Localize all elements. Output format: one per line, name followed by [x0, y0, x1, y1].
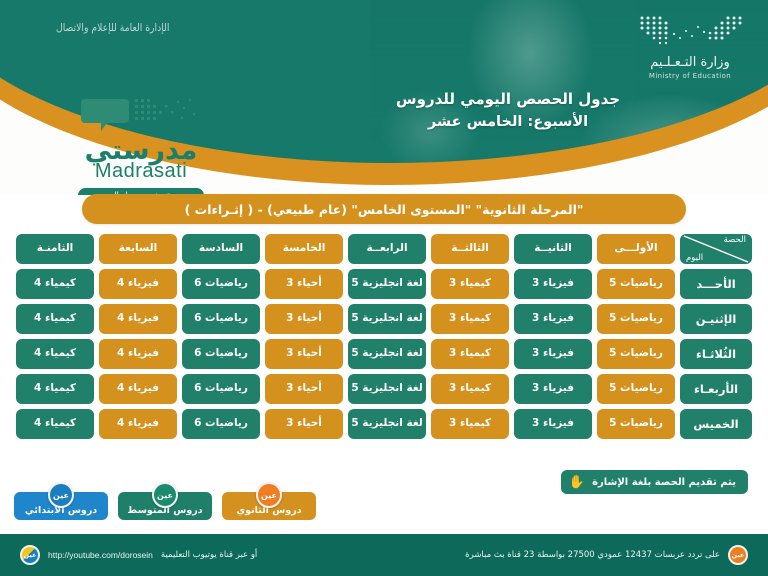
subject-cell[interactable]: فيزياء 3: [514, 374, 592, 404]
corner-period-label: الحصة: [724, 235, 746, 245]
subject-cell[interactable]: كيمياء 4: [16, 339, 94, 369]
period-header-cell: الأولـــى: [597, 234, 675, 264]
ein-logo-icon: عين: [728, 545, 748, 565]
day-label-cell: الخميس: [680, 409, 752, 439]
period-header-cell: الرابعــة: [348, 234, 426, 264]
subject-cell[interactable]: رياضيات 6: [182, 339, 260, 369]
subject-cell[interactable]: كيمياء 4: [16, 304, 94, 334]
subject-cell[interactable]: فيزياء 4: [99, 339, 177, 369]
day-label-cell: الأحـــد: [680, 269, 752, 299]
subject-cell[interactable]: رياضيات 6: [182, 269, 260, 299]
page-title-line1: جدول الحصص اليومي للدروس: [338, 88, 678, 111]
subject-cell[interactable]: فيزياء 4: [99, 409, 177, 439]
subject-cell[interactable]: كيمياء 4: [16, 269, 94, 299]
subject-cell[interactable]: كيمياء 4: [16, 409, 94, 439]
footer-youtube-info[interactable]: أو عبر قناة يوتيوب التعليمية http://yout…: [20, 545, 257, 565]
subject-cell[interactable]: كيمياء 4: [16, 374, 94, 404]
table-row: الأربعـاءرياضيات 5فيزياء 3كيمياء 3لغة ان…: [16, 374, 752, 404]
footer-bar: عين على تردد عربسات 12437 عمودي 27500 بو…: [0, 534, 768, 576]
page-title: جدول الحصص اليومي للدروس الأسبوع: الخامس…: [338, 88, 678, 134]
subject-cell[interactable]: رياضيات 5: [597, 374, 675, 404]
subject-cell[interactable]: فيزياء 3: [514, 304, 592, 334]
sign-language-hand-icon: ✋: [569, 476, 585, 489]
channel-badge[interactable]: عيندروس الابتدائي: [14, 482, 108, 520]
youtube-channel-text: أو عبر قناة يوتيوب التعليمية: [161, 550, 257, 560]
subject-cell[interactable]: كيمياء 3: [431, 339, 509, 369]
page-title-line2: الأسبوع: الخامس عشر: [338, 111, 678, 133]
subject-cell[interactable]: رياضيات 6: [182, 374, 260, 404]
day-label-cell: الأربعـاء: [680, 374, 752, 404]
table-row: الثُلاثـاءرياضيات 5فيزياء 3كيمياء 3لغة ا…: [16, 339, 752, 369]
channel-badges: عيندروس الابتدائيعيندروس المتوسطعيندروس …: [14, 482, 316, 520]
corner-day-label: اليوم: [686, 253, 703, 263]
period-header-cell: السادسة: [182, 234, 260, 264]
subject-cell[interactable]: أحياء 3: [265, 374, 343, 404]
ministry-of-education-logo: وزارة التـعـلـيم Ministry of Education: [636, 14, 744, 80]
ministry-name-en: Ministry of Education: [636, 72, 744, 80]
subject-cell[interactable]: كيمياء 3: [431, 374, 509, 404]
subject-cell[interactable]: رياضيات 6: [182, 409, 260, 439]
subject-cell[interactable]: رياضيات 5: [597, 339, 675, 369]
subject-cell[interactable]: فيزياء 4: [99, 374, 177, 404]
sign-language-note: يتم تقديم الحصة بلغة الإشارة ✋: [561, 470, 748, 494]
saudi-vision-emblem-icon: [636, 14, 744, 48]
subject-cell[interactable]: فيزياء 4: [99, 269, 177, 299]
subject-cell[interactable]: لغة انجليزية 5: [348, 304, 426, 334]
day-label-cell: الثُلاثـاء: [680, 339, 752, 369]
table-row: الأحـــدرياضيات 5فيزياء 3كيمياء 3لغة انج…: [16, 269, 752, 299]
subject-cell[interactable]: كيمياء 3: [431, 304, 509, 334]
table-row: الخميسرياضيات 5فيزياء 3كيمياء 3لغة انجلي…: [16, 409, 752, 439]
table-header-row: الحصةاليومالأولـــىالثانيــةالثالثــةالر…: [16, 234, 752, 264]
subject-cell[interactable]: فيزياء 4: [99, 304, 177, 334]
table-corner-cell: الحصةاليوم: [680, 234, 752, 264]
gov-department-label: الإدارة العامة للإعلام والاتصال: [56, 22, 169, 34]
subject-cell[interactable]: كيمياء 3: [431, 409, 509, 439]
period-header-cell: السابعة: [99, 234, 177, 264]
period-header-cell: الخامسة: [265, 234, 343, 264]
subject-cell[interactable]: رياضيات 5: [597, 409, 675, 439]
subject-cell[interactable]: فيزياء 3: [514, 409, 592, 439]
subject-cell[interactable]: كيمياء 3: [431, 269, 509, 299]
subject-cell[interactable]: لغة انجليزية 5: [348, 339, 426, 369]
ein-logo-icon: عين: [256, 482, 282, 508]
footer-satellite-info: عين على تردد عربسات 12437 عمودي 27500 بو…: [465, 545, 748, 565]
madrasati-name-en: Madrasati: [46, 160, 236, 183]
madrasati-logo: مدرستي Madrasati مدرسة بث وتسجيل الدروس: [46, 95, 236, 195]
subject-cell[interactable]: رياضيات 5: [597, 269, 675, 299]
period-header-cell: الثانيــة: [514, 234, 592, 264]
subject-cell[interactable]: لغة انجليزية 5: [348, 409, 426, 439]
subject-cell[interactable]: أحياء 3: [265, 409, 343, 439]
channel-badge[interactable]: عيندروس المتوسط: [118, 482, 212, 520]
satellite-frequency-text: على تردد عربسات 12437 عمودي 27500 بواسطة…: [465, 550, 720, 560]
subject-cell[interactable]: أحياء 3: [265, 269, 343, 299]
youtube-url-link[interactable]: http://youtube.com/dorosein: [48, 550, 153, 560]
subject-cell[interactable]: فيزياء 3: [514, 339, 592, 369]
subject-cell[interactable]: لغة انجليزية 5: [348, 269, 426, 299]
schedule-table: الحصةاليومالأولـــىالثانيــةالثالثــةالر…: [16, 234, 752, 444]
channel-badge[interactable]: عيندروس الثانوي: [222, 482, 316, 520]
ein-logo-icon: عين: [152, 482, 178, 508]
subject-cell[interactable]: لغة انجليزية 5: [348, 374, 426, 404]
period-header-cell: الثامنـة: [16, 234, 94, 264]
ein-youtube-logo-icon: عين: [20, 545, 40, 565]
ministry-name-ar: وزارة التـعـلـيم: [636, 55, 744, 70]
ein-logo-icon: عين: [48, 482, 74, 508]
subject-cell[interactable]: أحياء 3: [265, 339, 343, 369]
page-header: الإدارة العامة للإعلام والاتصال وزارة ال…: [0, 0, 768, 195]
subject-cell[interactable]: رياضيات 5: [597, 304, 675, 334]
subject-cell[interactable]: فيزياء 3: [514, 269, 592, 299]
subject-cell[interactable]: أحياء 3: [265, 304, 343, 334]
stage-level-subtitle: "المرحلة الثانوية" "المستوى الخامس" (عام…: [82, 194, 686, 224]
subject-cell[interactable]: رياضيات 6: [182, 304, 260, 334]
period-header-cell: الثالثــة: [431, 234, 509, 264]
table-row: الإثنيـنرياضيات 5فيزياء 3كيمياء 3لغة انج…: [16, 304, 752, 334]
day-label-cell: الإثنيـن: [680, 304, 752, 334]
sign-note-label: يتم تقديم الحصة بلغة الإشارة: [592, 477, 736, 488]
madrasati-speech-bubble-icon: [81, 95, 201, 135]
